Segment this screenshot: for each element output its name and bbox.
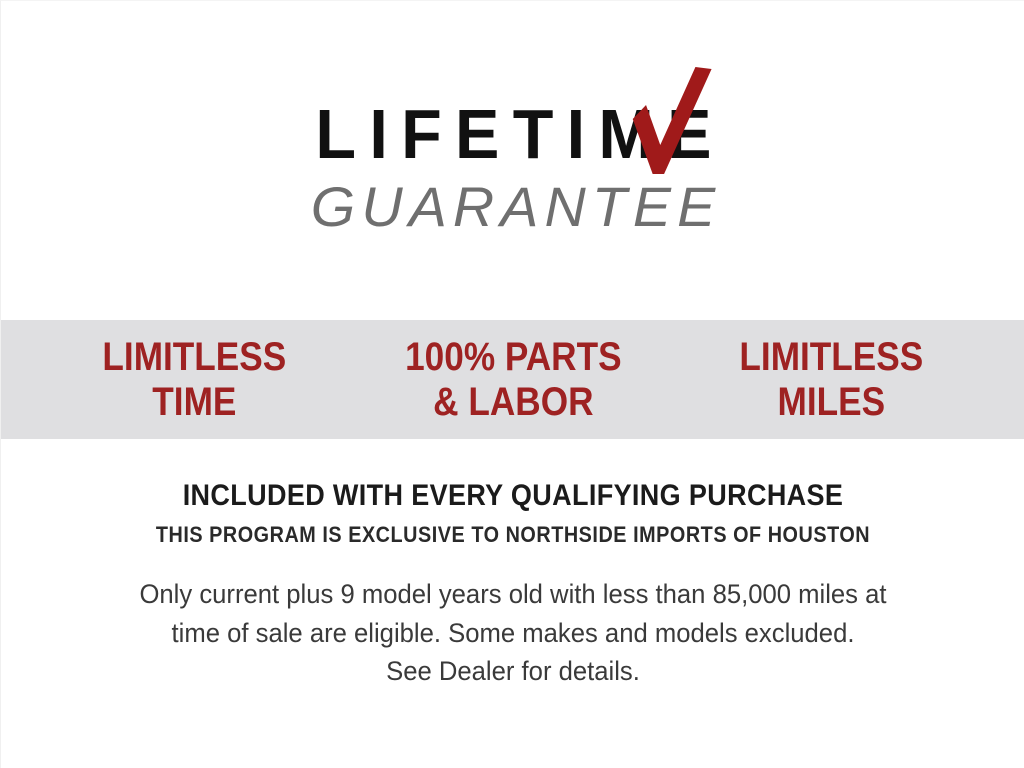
logo-lifetime-text: LIFETIME: [315, 95, 724, 173]
feature-time-line1: LIMITLESS: [102, 335, 286, 379]
feature-miles-line2: MILES: [691, 380, 971, 425]
fineprint: Only current plus 9 model years old with…: [27, 575, 1000, 690]
lower-text-block: INCLUDED WITH EVERY QUALIFYING PURCHASE …: [1, 479, 1024, 690]
feature-time-line2: TIME: [54, 380, 334, 425]
logo-lifetime-wordmark: LIFETIME: [302, 99, 725, 169]
lifetime-guarantee-ad: LIFETIME GUARANTEE LIMITLESS TIME 100% P…: [0, 0, 1024, 768]
feature-parts-line2: & LABOR: [373, 380, 653, 425]
logo-block: LIFETIME GUARANTEE: [1, 99, 1024, 235]
feature-miles-line1: LIMITLESS: [740, 335, 924, 379]
fineprint-line-1: Only current plus 9 model years old with…: [27, 575, 1000, 613]
subheadline: THIS PROGRAM IS EXCLUSIVE TO NORTHSIDE I…: [52, 523, 974, 547]
feature-column-parts-labor: 100% PARTS & LABOR: [373, 335, 653, 425]
feature-parts-line1: 100% PARTS: [405, 335, 621, 379]
fineprint-line-3: See Dealer for details.: [27, 652, 1000, 690]
logo-guarantee-text: GUARANTEE: [0, 179, 1024, 235]
fineprint-line-2: time of sale are eligible. Some makes an…: [27, 614, 1000, 652]
feature-column-time: LIMITLESS TIME: [54, 335, 334, 425]
features-band: LIMITLESS TIME 100% PARTS & LABOR LIMITL…: [1, 320, 1024, 439]
headline: INCLUDED WITH EVERY QUALIFYING PURCHASE: [52, 479, 974, 512]
feature-column-miles: LIMITLESS MILES: [691, 335, 971, 425]
